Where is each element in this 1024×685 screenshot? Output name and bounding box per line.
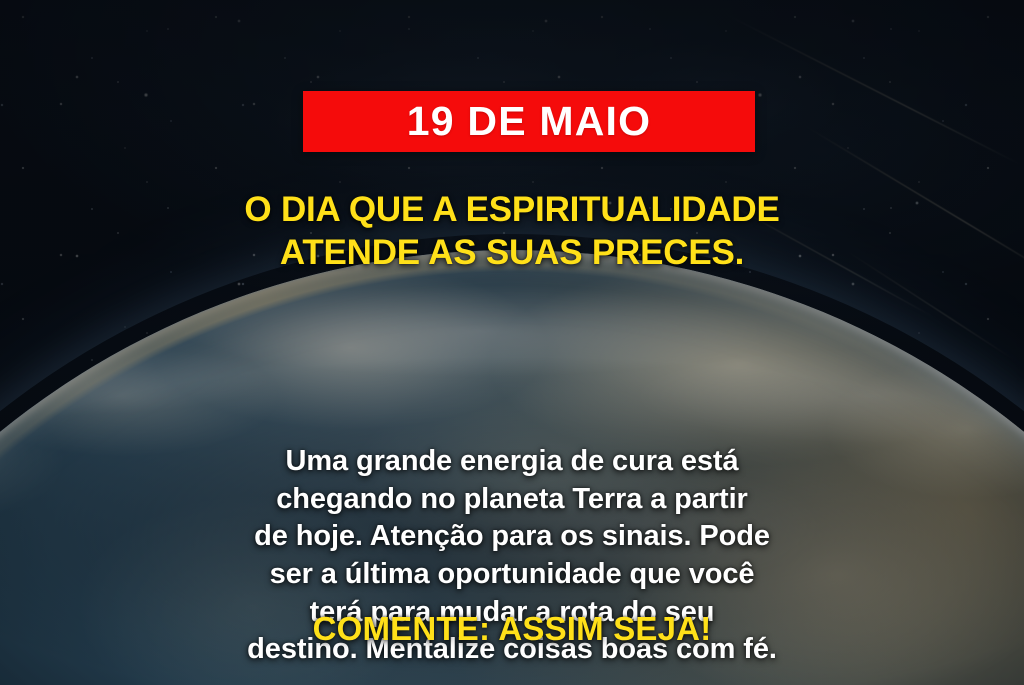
date-banner: 19 DE MAIO (303, 91, 755, 152)
poster-content: 19 DE MAIO O DIA QUE A ESPIRITUALIDADE A… (0, 0, 1024, 685)
poster-canvas: 19 DE MAIO O DIA QUE A ESPIRITUALIDADE A… (0, 0, 1024, 685)
headline-line-1: O DIA QUE A ESPIRITUALIDADE (0, 189, 1024, 232)
headline-line-2: ATENDE AS SUAS PRECES. (0, 232, 1024, 275)
body-line-4: ser a última oportunidade que você (0, 556, 1024, 594)
date-banner-label: 19 DE MAIO (407, 101, 651, 142)
body-line-1: Uma grande energia de cura está (0, 443, 1024, 481)
headline: O DIA QUE A ESPIRITUALIDADE ATENDE AS SU… (0, 189, 1024, 274)
body-line-2: chegando no planeta Terra a partir (0, 481, 1024, 519)
call-to-action: COMENTE: ASSIM SEJA! (0, 611, 1024, 647)
body-line-3: de hoje. Atenção para os sinais. Pode (0, 518, 1024, 556)
